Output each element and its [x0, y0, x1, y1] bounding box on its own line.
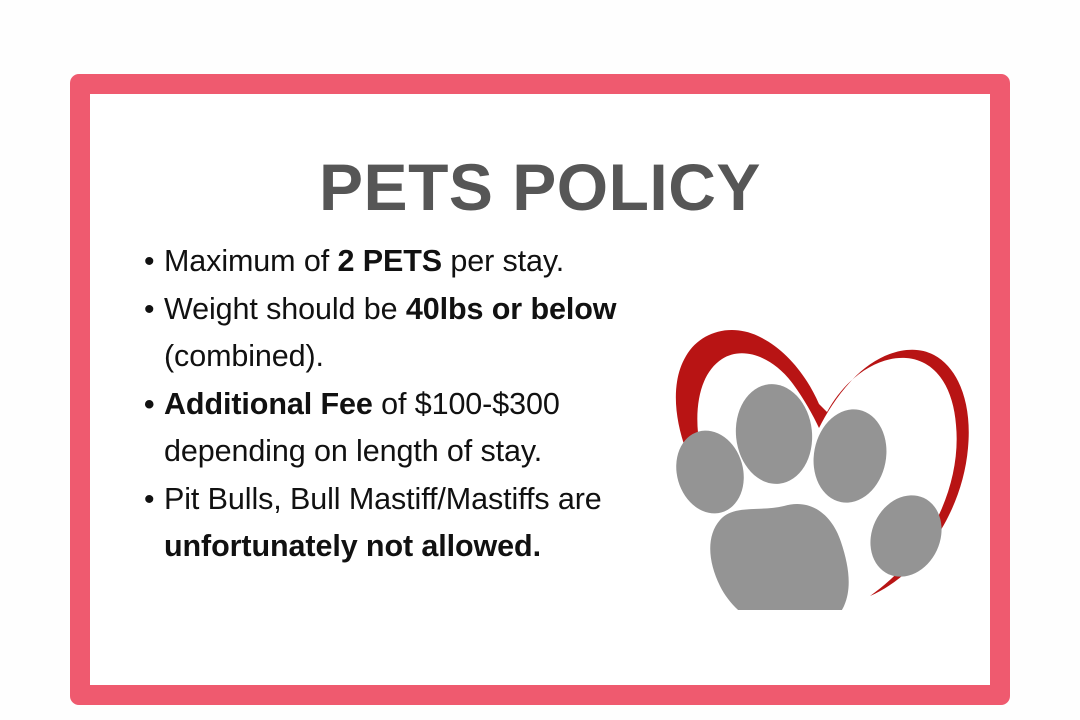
list-item-text: Pit Bulls, Bull Mastiff/Mastiffs are unf… [164, 476, 664, 570]
paw-toe-pad-outer-right [857, 484, 954, 589]
list-item: •Pit Bulls, Bull Mastiff/Mastiffs are un… [144, 476, 664, 570]
list-item: •Additional Fee of $100-$300 depending o… [144, 381, 664, 475]
paw-main-pad [710, 504, 848, 610]
list-item: •Weight should be 40lbs or below (combin… [144, 286, 664, 380]
body-text: Pit Bulls, Bull Mastiff/Mastiffs are [164, 482, 602, 516]
pets-policy-poster: PETS POLICY •Maximum of 2 PETS per stay.… [0, 0, 1080, 720]
page-title: PETS POLICY [90, 154, 990, 220]
emphasis-text: unfortunately not allowed. [164, 529, 541, 563]
bullet-marker-icon: • [144, 381, 164, 428]
bullet-marker-icon: • [144, 238, 164, 285]
body-text: Maximum of [164, 244, 337, 278]
emphasis-text: Additional Fee [164, 387, 373, 421]
list-item-text: Maximum of 2 PETS per stay. [164, 238, 664, 285]
poster-frame: PETS POLICY •Maximum of 2 PETS per stay.… [70, 74, 1010, 705]
list-item-text: Additional Fee of $100-$300 depending on… [164, 381, 664, 475]
emphasis-text: 2 PETS [337, 244, 442, 278]
list-item: •Maximum of 2 PETS per stay. [144, 238, 664, 285]
heart-paw-logo [638, 270, 998, 610]
emphasis-text: 40lbs or below [406, 292, 616, 326]
policy-list: •Maximum of 2 PETS per stay.•Weight shou… [144, 238, 664, 571]
bullet-marker-icon: • [144, 286, 164, 333]
body-text: Weight should be [164, 292, 406, 326]
body-text: per stay. [442, 244, 564, 278]
body-text: (combined). [164, 339, 324, 373]
list-item-text: Weight should be 40lbs or below (combine… [164, 286, 664, 380]
bullet-marker-icon: • [144, 476, 164, 523]
